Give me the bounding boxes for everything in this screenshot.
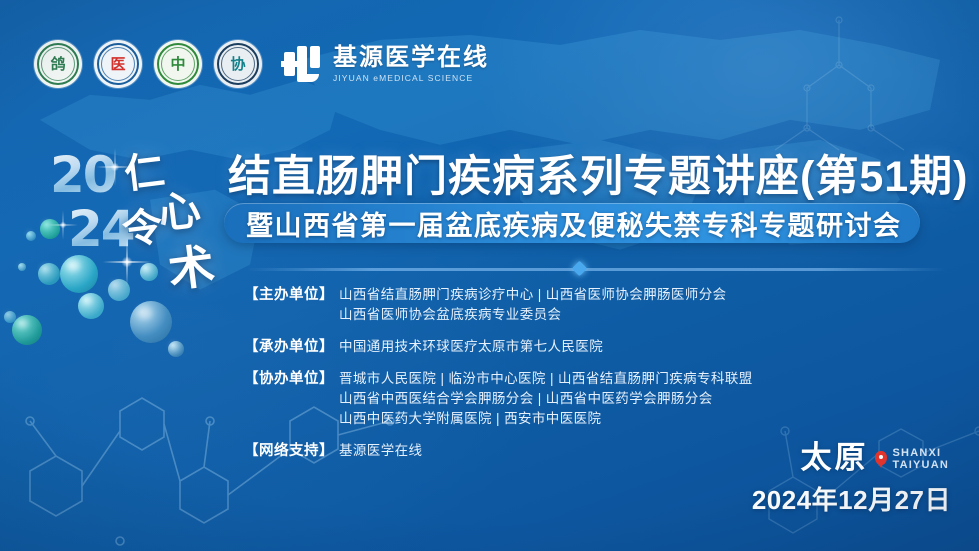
organization-logos: 鸽 医 中 协 基源医学在线 JIYUAN eMEDICAL SCIENCE — [34, 40, 489, 88]
brand-name-en: JIYUAN eMEDICAL SCIENCE — [333, 73, 489, 83]
emblem-red-cross: 医 — [94, 40, 142, 88]
info-label: 【主办单位】 — [244, 285, 334, 305]
emblem-dove: 鸽 — [34, 40, 82, 88]
organizer-info: 【主办单位】 山西省结直肠胛门疾病诊疗中心 | 山西省医师协会胛肠医师分会 山西… — [244, 285, 944, 461]
calligraphy-char-3: 令 — [119, 194, 166, 256]
emblem-red-cross-glyph: 医 — [110, 57, 125, 72]
info-line: 晋城市人民医院 | 临汾市中心医院 | 山西省结直肠胛门疾病专科联盟 — [339, 369, 753, 389]
location-province-en: SHANXI — [893, 447, 949, 459]
dna-strand-decoration — [719, 10, 959, 160]
location-pin-icon — [875, 451, 887, 468]
info-row-host: 【主办单位】 山西省结直肠胛门疾病诊疗中心 | 山西省医师协会胛肠医师分会 山西… — [244, 285, 944, 325]
divider-diamond-icon — [572, 261, 588, 277]
year-top: 20 — [50, 150, 116, 200]
location-name-cn: 太原 — [801, 442, 869, 473]
emblem-navy-glyph: 协 — [230, 57, 245, 72]
info-line: 山西省结直肠胛门疾病诊疗中心 | 山西省医师协会胛肠医师分会 — [339, 285, 727, 305]
subtitle-capsule: 暨山西省第一届盆底疾病及便秘失禁专科专题研讨会 — [224, 203, 920, 243]
brand-lockup: 基源医学在线 JIYUAN eMEDICAL SCIENCE — [284, 45, 489, 82]
info-line: 中国通用技术环球医疗太原市第七人民医院 — [339, 337, 603, 357]
emblem-green-shield: 中 — [154, 40, 202, 88]
page-subtitle: 暨山西省第一届盆底疾病及便秘失禁专科专题研讨会 — [246, 204, 902, 243]
event-date: 2024年12月27日 — [752, 480, 951, 517]
conference-poster: 鸽 医 中 协 基源医学在线 JIYUAN eMEDICAL SCIENCE — [0, 0, 979, 551]
brand-name-cn: 基源医学在线 — [333, 45, 489, 70]
info-row-organizer: 【承办单位】 中国通用技术环球医疗太原市第七人民医院 — [244, 337, 944, 357]
location-name-en: SHANXI TAIYUAN — [893, 447, 949, 471]
brand-text: 基源医学在线 JIYUAN eMEDICAL SCIENCE — [333, 45, 489, 82]
info-lines: 晋城市人民医院 | 临汾市中心医院 | 山西省结直肠胛门疾病专科联盟 山西省中西… — [339, 369, 753, 429]
info-lines: 基源医学在线 — [339, 441, 422, 461]
page-title: 结直肠胛门疾病系列专题讲座(第51期) — [228, 142, 952, 204]
info-label: 【承办单位】 — [244, 337, 334, 357]
info-line: 山西省医师协会盆底疾病专业委员会 — [339, 305, 727, 325]
calligraphy-char-4: 术 — [164, 229, 218, 300]
info-lines: 中国通用技术环球医疗太原市第七人民医院 — [339, 337, 603, 357]
info-label: 【网络支持】 — [244, 441, 334, 461]
info-line: 基源医学在线 — [339, 441, 422, 461]
emblem-dove-glyph: 鸽 — [50, 57, 65, 72]
info-label: 【协办单位】 — [244, 369, 334, 389]
info-row-coorganizer: 【协办单位】 晋城市人民医院 | 临汾市中心医院 | 山西省结直肠胛门疾病专科联… — [244, 369, 944, 429]
info-line: 山西中医药大学附属医院 | 西安市中医医院 — [339, 409, 753, 429]
emblem-green-shield-glyph: 中 — [170, 57, 185, 72]
info-line: 山西省中西医结合学会胛肠分会 | 山西省中医药学会胛肠分会 — [339, 389, 753, 409]
emblem-navy: 协 — [214, 40, 262, 88]
divider — [246, 268, 946, 271]
location-city-en: TAIYUAN — [893, 459, 949, 471]
info-lines: 山西省结直肠胛门疾病诊疗中心 | 山西省医师协会胛肠医师分会 山西省医师协会盆底… — [339, 285, 727, 325]
event-location: 太原 SHANXI TAIYUAN — [801, 442, 949, 473]
jiyuan-logo-icon — [284, 46, 324, 82]
